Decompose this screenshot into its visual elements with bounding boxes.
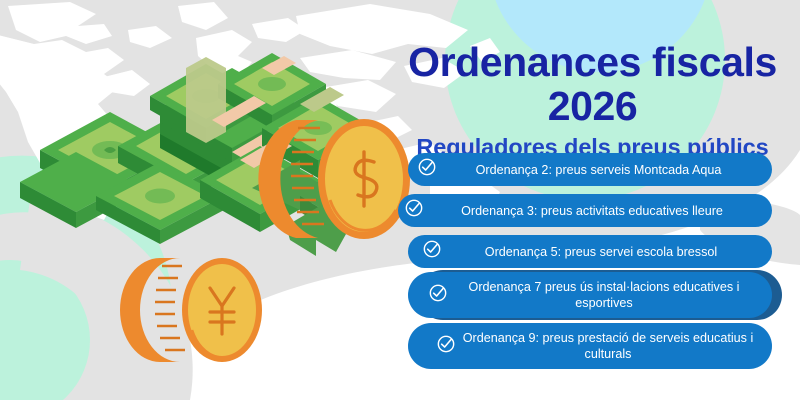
list-item-ordenanca-2[interactable]: Ordenança 2: preus serveis Montcada Aqua [408,153,772,186]
check-circle-icon [404,198,424,223]
list-item-label: Ordenança 7 preus ús instal·lacions educ… [448,279,766,311]
gold-coin-partial [338,186,350,206]
money-band-olive [186,57,226,143]
list-item-ordenanca-3[interactable]: Ordenança 3: preus activitats educatives… [398,194,772,227]
check-circle-icon [417,157,437,182]
money-illustration [0,0,420,400]
poster-canvas: Ordenances fiscals 2026 Reguladores dels… [0,0,800,400]
list-item-label: Ordenança 2: preus serveis Montcada Aqua [437,162,766,178]
check-circle-icon [422,239,442,264]
list-item-ordenanca-5[interactable]: Ordenança 5: preus servei escola bressol [408,235,772,268]
list-item-label: Ordenança 3: preus activitats educatives… [424,203,766,219]
coin-edge-ridges-2 [155,266,185,350]
check-circle-icon [436,334,456,359]
page-title: Ordenances fiscals 2026 [385,40,800,128]
check-circle-icon [428,283,448,308]
list-item-label: Ordenança 5: preus servei escola bressol [442,244,766,260]
gold-coin-yen [120,258,262,362]
list-item-ordenanca-9[interactable]: Ordenança 9: preus prestació de serveis … [408,323,772,369]
content-column: Ordenances fiscals 2026 Reguladores dels… [385,0,800,400]
list-item-label: Ordenança 9: preus prestació de serveis … [456,330,766,362]
list-item-ordenanca-7[interactable]: Ordenança 7 preus ús instal·lacions educ… [408,272,772,318]
